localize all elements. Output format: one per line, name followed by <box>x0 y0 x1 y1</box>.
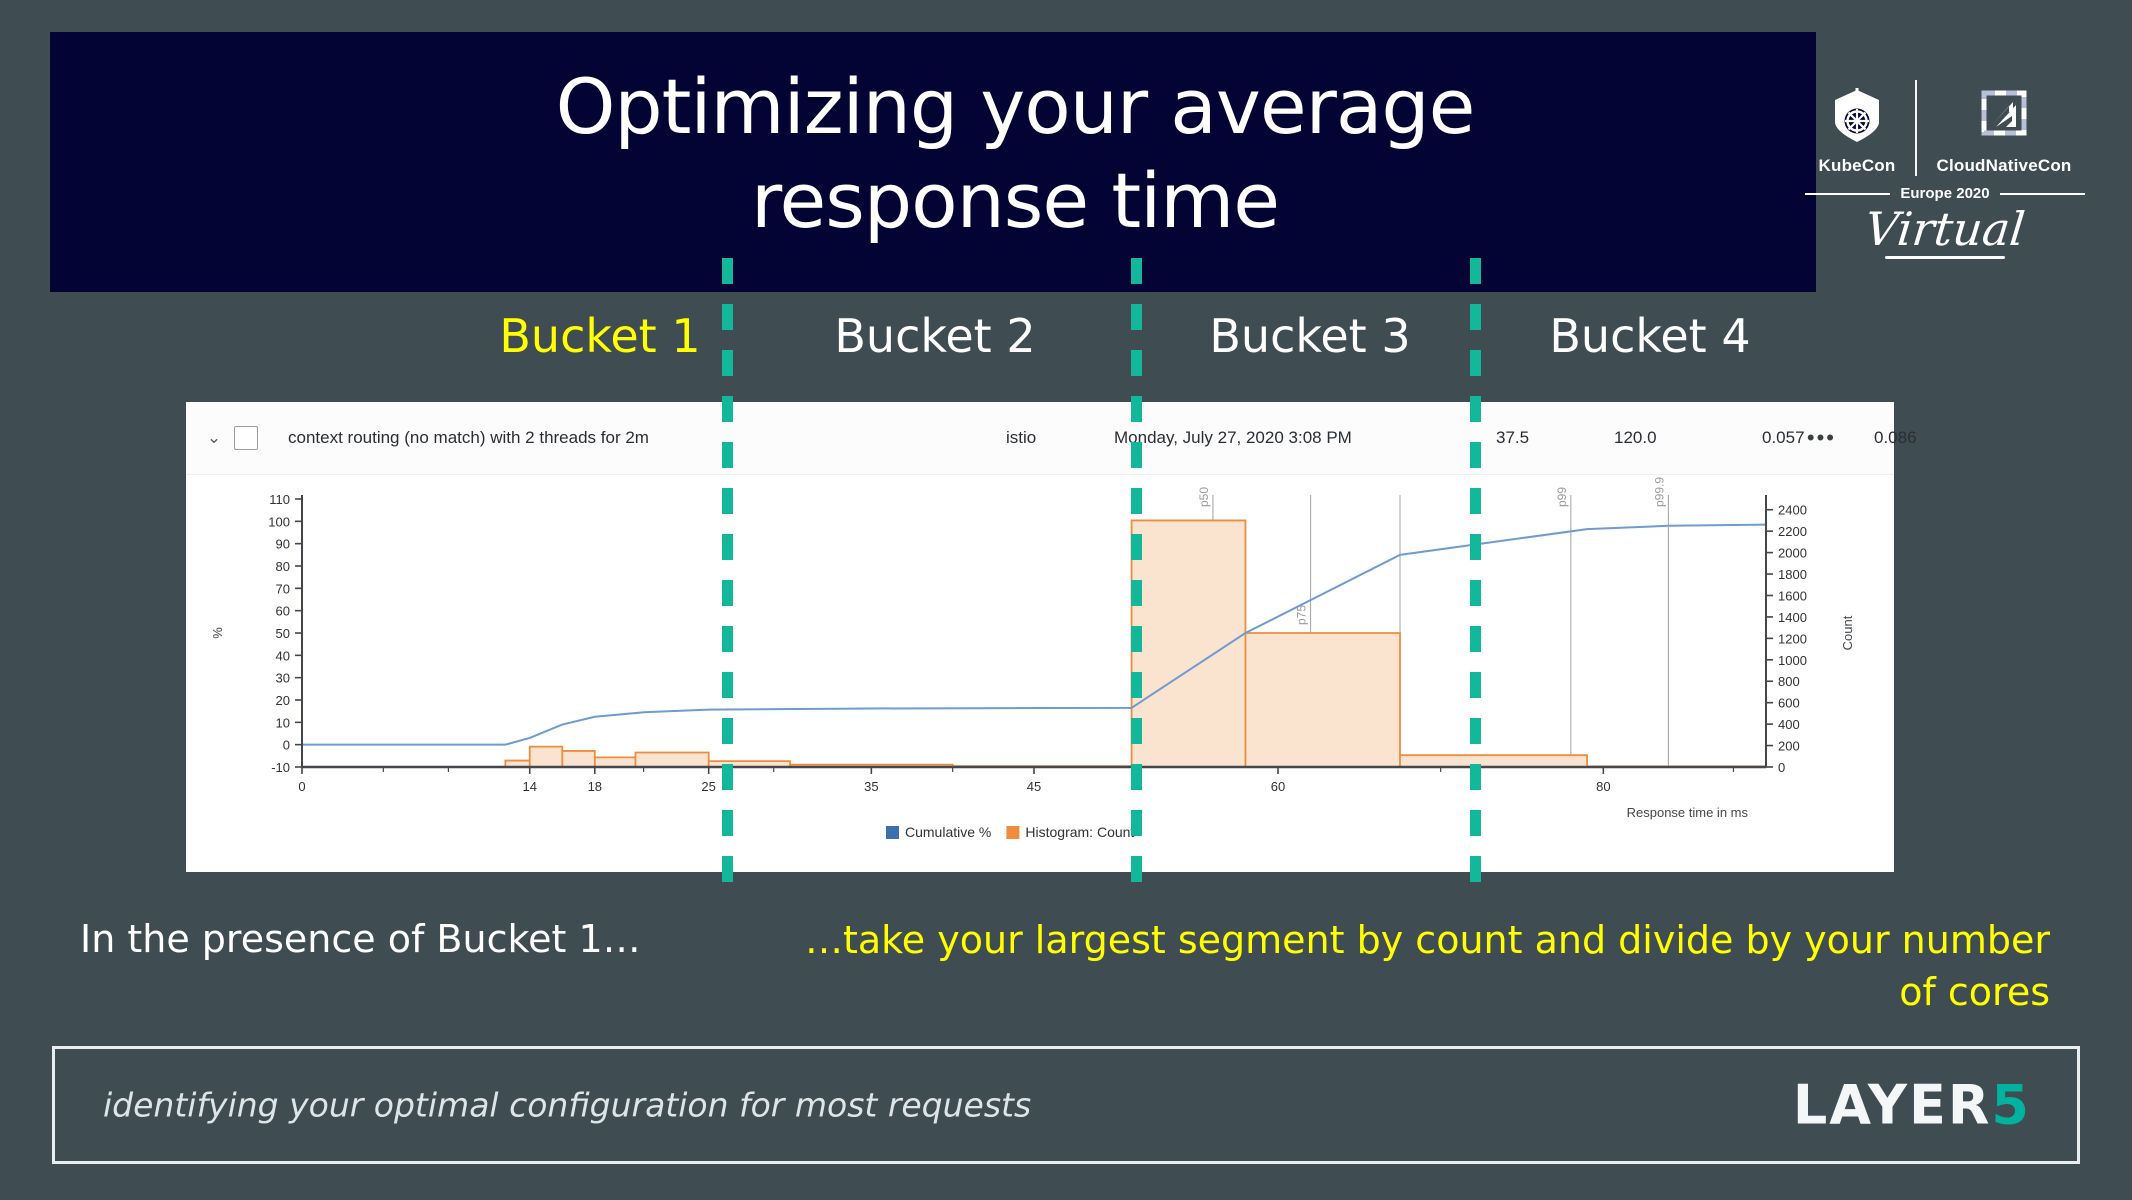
virtual-wordmark: Virtual <box>1802 204 2087 254</box>
y-tick-label: 60 <box>276 604 290 619</box>
y2-tick-label: 1200 <box>1778 631 1807 646</box>
y2-tick-label: 2400 <box>1778 503 1807 518</box>
legend-label: Histogram: Count <box>1025 824 1134 840</box>
y-tick-label: -10 <box>271 760 290 775</box>
footer-bar: identifying your optimal configuration f… <box>52 1046 2080 1164</box>
chart-svg: p50p75p90p99p99.9-1001020304050607080901… <box>186 475 1894 872</box>
y-tick-label: 10 <box>276 715 290 730</box>
y-tick-label: 80 <box>276 559 290 574</box>
x-tick-label: 18 <box>588 779 602 794</box>
footer-tagline: identifying your optimal configuration f… <box>103 1086 1031 1125</box>
x-tick-label: 14 <box>522 779 536 794</box>
caption-left: In the presence of Bucket 1… <box>80 914 740 964</box>
caption-right: …take your largest segment by count and … <box>790 914 2050 1018</box>
chevron-down-icon[interactable]: ⌄ <box>202 428 226 448</box>
kubernetes-helm-icon <box>1829 83 1885 149</box>
x-tick-label: 80 <box>1596 779 1610 794</box>
x-tick-label: 60 <box>1271 779 1285 794</box>
edition-rule-right <box>2000 193 2085 195</box>
edition-label: Europe 2020 <box>1900 185 1989 202</box>
layer5-wordmark: LAYER <box>1793 1074 1992 1137</box>
bucket-label-row: Bucket 1 Bucket 2 Bucket 3 Bucket 4 <box>0 300 2132 380</box>
title-banner: Optimizing your average response time <box>50 32 1816 292</box>
y2-tick-label: 0 <box>1778 760 1785 775</box>
page-title: Optimizing your average response time <box>380 60 1650 248</box>
bucket-label-3: Bucket 3 <box>1145 300 1475 372</box>
y2-tick-label: 1000 <box>1778 653 1807 668</box>
y2-tick-label: 200 <box>1778 739 1800 754</box>
metric-value-3: 0.057 <box>1762 428 1805 448</box>
histogram-area <box>302 520 1766 767</box>
percentile-marker-p99: p99 <box>1555 487 1569 507</box>
x-tick-label: 35 <box>864 779 878 794</box>
y2-tick-label: 400 <box>1778 717 1800 732</box>
bucket-label-4: Bucket 4 <box>1485 300 1815 372</box>
y-tick-label: 20 <box>276 693 290 708</box>
row-checkbox[interactable] <box>234 426 258 450</box>
virtual-underline <box>1885 256 2005 259</box>
logo-divider <box>1915 80 1917 176</box>
y-tick-label: 40 <box>276 648 290 663</box>
kubecon-cloudnativecon-logo: KubeCon CloudNativeCon Europe 2020 <box>1805 68 2085 268</box>
percentile-marker-p99-9: p99.9 <box>1652 477 1666 507</box>
conference-edition: Europe 2020 <box>1805 185 2085 202</box>
test-name-label: context routing (no match) with 2 thread… <box>288 428 649 448</box>
bucket-label-2: Bucket 2 <box>740 300 1130 372</box>
y-axis-label: % <box>210 627 225 639</box>
bucket-divider-3 <box>1470 258 1481 898</box>
kubecon-block: KubeCon <box>1807 83 1907 176</box>
layer5-digit: 5 <box>1991 1074 2031 1137</box>
metric-value-2: 120.0 <box>1614 428 1657 448</box>
y2-tick-label: 800 <box>1778 674 1800 689</box>
bucket-divider-1 <box>722 258 733 898</box>
y2-tick-label: 2000 <box>1778 546 1807 561</box>
mesh-label: istio <box>1006 428 1036 448</box>
cumulative-line <box>302 525 1766 745</box>
page-title-line-1: Optimizing your average <box>380 60 1650 154</box>
percentile-marker-p50: p50 <box>1197 487 1211 507</box>
legend-label: Cumulative % <box>905 824 991 840</box>
y2-axis-label: Count <box>1840 615 1855 650</box>
result-row-header[interactable]: ⌄ context routing (no match) with 2 thre… <box>186 402 1894 475</box>
kubecon-wordmark: KubeCon <box>1819 156 1896 176</box>
edition-rule-left <box>1805 193 1890 195</box>
y2-tick-label: 1600 <box>1778 588 1807 603</box>
y-tick-label: 70 <box>276 581 290 596</box>
bucket-label-1: Bucket 1 <box>460 300 740 372</box>
y-tick-label: 100 <box>268 514 290 529</box>
x-axis-label: Response time in ms <box>1627 805 1749 820</box>
y-tick-label: 50 <box>276 626 290 641</box>
y2-tick-label: 1400 <box>1778 610 1807 625</box>
metric-value-4: 0.086 <box>1874 428 1917 448</box>
x-tick-label: 0 <box>298 779 305 794</box>
timestamp-label: Monday, July 27, 2020 3:08 PM <box>1114 428 1352 448</box>
cloudnativecon-wordmark: CloudNativeCon <box>1936 156 2071 176</box>
page-title-line-2: response time <box>380 154 1650 248</box>
legend-swatch <box>1006 826 1019 839</box>
x-tick-label: 25 <box>701 779 715 794</box>
y-tick-label: 110 <box>269 492 290 507</box>
y2-tick-label: 1800 <box>1778 567 1807 582</box>
y-tick-label: 30 <box>276 671 290 686</box>
y2-tick-label: 2200 <box>1778 524 1807 539</box>
overflow-menu-icon[interactable]: ••• <box>1807 425 1836 451</box>
cloudnativecon-square-icon <box>1976 83 2032 149</box>
layer5-logo: LAYER5 <box>1793 1074 2031 1137</box>
legend-swatch <box>886 826 899 839</box>
y-tick-label: 90 <box>276 537 290 552</box>
cloudnativecon-block: CloudNativeCon <box>1925 83 2083 176</box>
histogram-chart: p50p75p90p99p99.9-1001020304050607080901… <box>186 475 1894 872</box>
bucket-divider-2 <box>1131 258 1142 898</box>
chart-panel: ⌄ context routing (no match) with 2 thre… <box>186 402 1894 872</box>
y2-tick-label: 600 <box>1778 696 1800 711</box>
x-tick-label: 45 <box>1027 779 1041 794</box>
y-tick-label: 0 <box>283 738 290 753</box>
metric-value-1: 37.5 <box>1496 428 1529 448</box>
slide-root: { "slide": { "background_color": "#3f4c5… <box>0 0 2132 1200</box>
